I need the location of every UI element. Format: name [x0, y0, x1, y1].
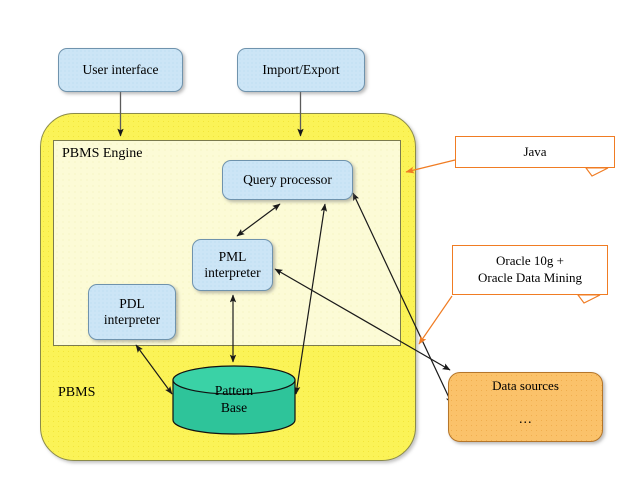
pbms-container-label: PBMS: [58, 385, 95, 401]
callout-java-label: Java: [523, 144, 546, 161]
node-query-processor-label: Query processor: [243, 172, 332, 188]
edge-query-processor-data-sources: [353, 193, 452, 404]
node-pattern-base[interactable]: Pattern Base: [173, 383, 295, 417]
edge-query-processor-pml-interpreter: [237, 204, 280, 236]
node-pml-interpreter-label: PML interpreter: [204, 249, 260, 280]
node-pdl-interpreter-line2: interpreter: [104, 312, 160, 327]
callout-oracle-line1: Oracle 10g +: [496, 253, 564, 268]
diagram-canvas: PBMS PBMS Engine User interface Import/E…: [0, 0, 640, 480]
node-pdl-interpreter-label: PDL interpreter: [104, 296, 160, 327]
edge-query-processor-pattern-base: [296, 204, 325, 394]
callout-oracle-label: Oracle 10g + Oracle Data Mining: [478, 253, 582, 287]
data-sources-ellipsis: ...: [519, 412, 533, 428]
callout-tail-java: [586, 168, 608, 176]
node-pml-interpreter-line2: interpreter: [204, 265, 260, 280]
callout-tail-oracle: [578, 295, 600, 303]
node-pdl-interpreter[interactable]: PDL interpreter: [88, 284, 176, 340]
node-import-export[interactable]: Import/Export: [237, 48, 365, 92]
callout-oracle-line2: Oracle Data Mining: [478, 270, 582, 285]
node-pattern-base-line1: Pattern: [215, 383, 253, 398]
callout-oracle[interactable]: Oracle 10g + Oracle Data Mining: [452, 245, 608, 295]
edge-pdl-interpreter-pattern-base: [136, 345, 172, 394]
node-query-processor[interactable]: Query processor: [222, 160, 353, 200]
edge-pml-interpreter-data-sources: [275, 269, 450, 370]
node-import-export-label: Import/Export: [262, 62, 339, 78]
callout-java[interactable]: Java: [455, 136, 615, 168]
node-pml-interpreter-line1: PML: [219, 249, 247, 264]
node-pdl-interpreter-line1: PDL: [119, 296, 145, 311]
pbms-engine-label: PBMS Engine: [62, 146, 143, 162]
node-user-interface-label: User interface: [82, 62, 158, 78]
node-data-sources-label: Data sources: [448, 378, 603, 394]
callout-pointer-java: [406, 160, 455, 172]
callout-pointer-oracle: [419, 296, 452, 344]
node-pml-interpreter[interactable]: PML interpreter: [192, 239, 273, 291]
node-user-interface[interactable]: User interface: [58, 48, 183, 92]
node-pattern-base-line2: Base: [221, 400, 247, 415]
